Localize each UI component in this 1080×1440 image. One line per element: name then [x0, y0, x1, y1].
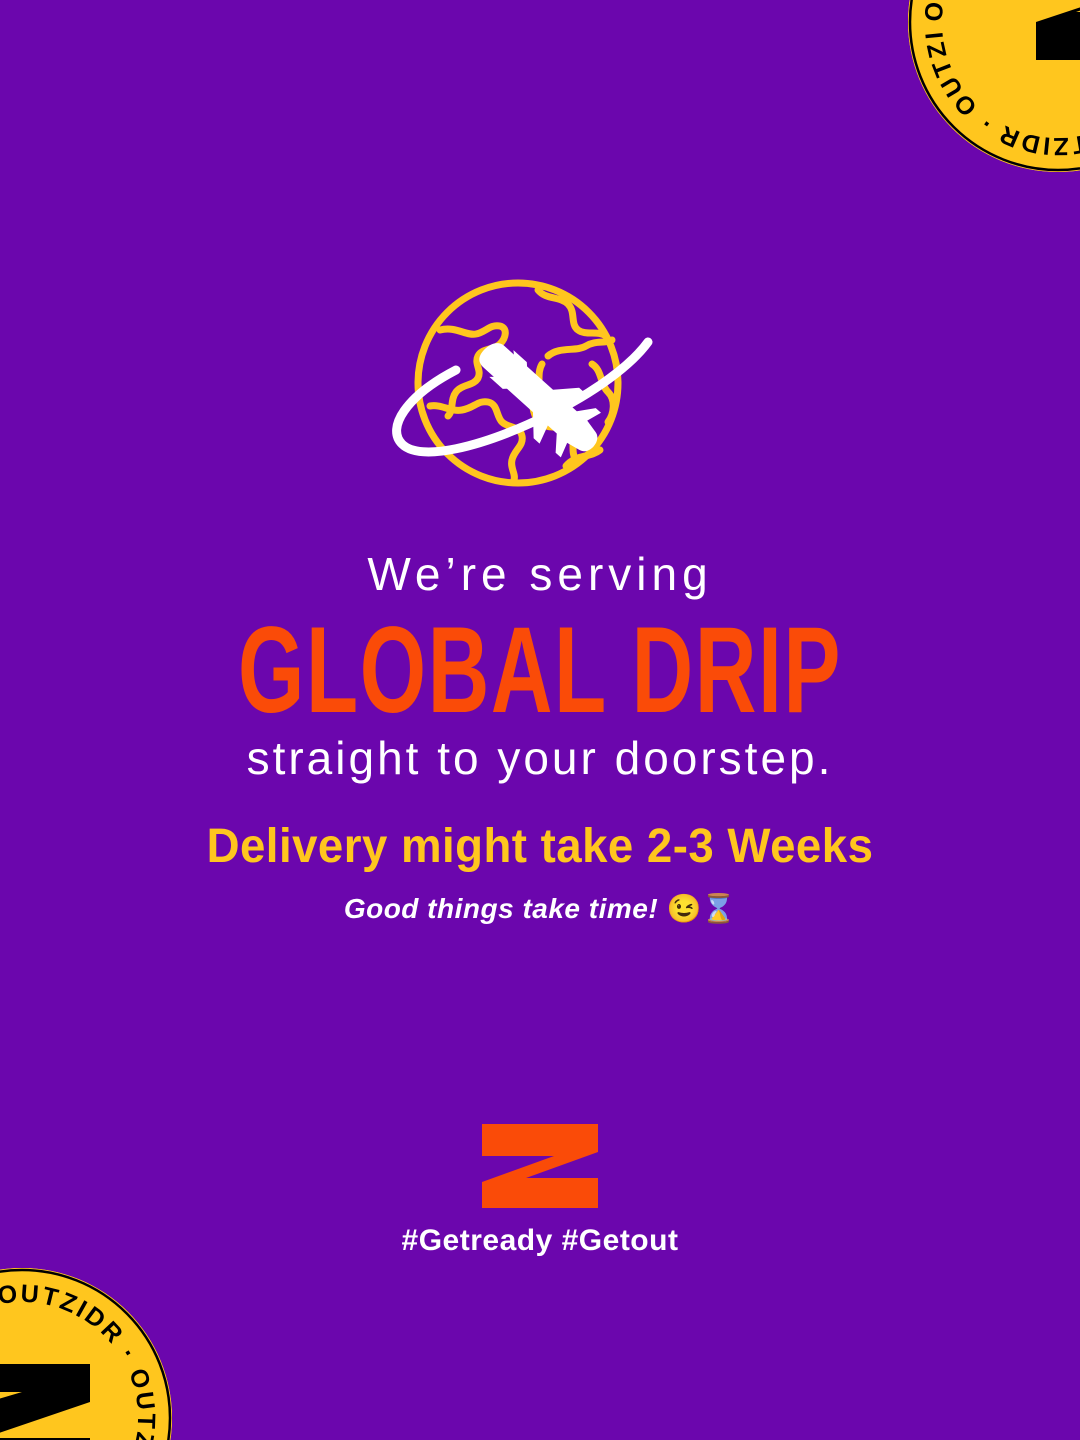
footer-block: #Getready #Getout	[0, 1122, 1080, 1258]
delivery-subtext-label: Good things take time!	[344, 893, 658, 924]
delivery-headline: Delivery might take 2-3 Weeks	[27, 818, 1053, 876]
footer-hashtags: #Getready #Getout	[0, 1224, 1080, 1258]
outzidr-z-logo	[478, 1122, 602, 1210]
wink-hourglass-emoji: 😉⌛	[666, 893, 736, 924]
copy-line-outro: straight to your doorstep.	[0, 732, 1080, 785]
copy-headline: GLOBAL DRIP	[97, 607, 983, 736]
poster-canvas: OUTZIDR · OUTZIDR · OUTZIDR · OUTZIDR · …	[0, 0, 1080, 1440]
globe-airplane-illustration	[0, 278, 1080, 503]
copy-line-intro: We’re serving	[0, 548, 1080, 601]
outzidr-badge-top-right: OUTZIDR · OUTZIDR · OUTZIDR · OUTZIDR · …	[908, 0, 1080, 172]
delivery-subtext: Good things take time! 😉⌛	[0, 892, 1080, 926]
delivery-note-block: Delivery might take 2-3 Weeks Good thing…	[0, 818, 1080, 925]
main-copy-block: We’re serving GLOBAL DRIP straight to yo…	[0, 548, 1080, 785]
outzidr-badge-bottom-left: OUTZIDR · OUTZIDR · OUTZIDR · OUTZIDR · …	[0, 1268, 172, 1440]
